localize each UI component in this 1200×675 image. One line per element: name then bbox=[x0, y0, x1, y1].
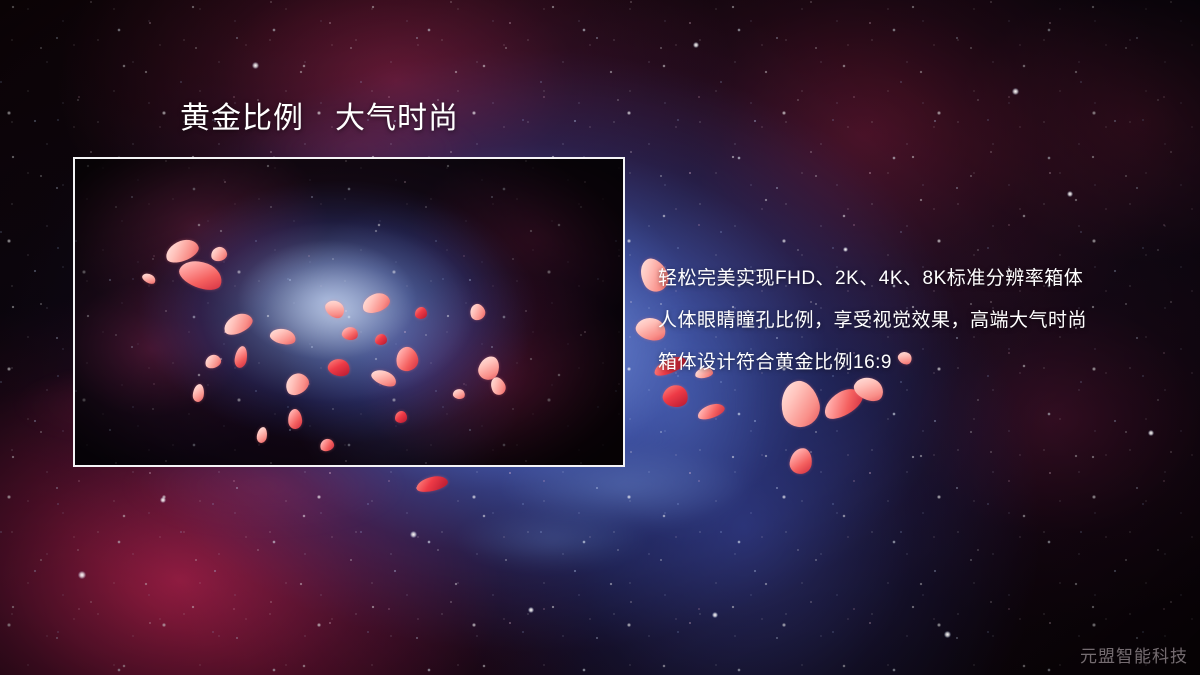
page-title: 黄金比例 大气时尚 bbox=[180, 101, 459, 137]
body-line-1: 轻松完美实现FHD、2K、4K、8K标准分辨率箱体 bbox=[658, 258, 1178, 300]
framed-nebula-photo bbox=[73, 157, 625, 467]
body-text-block: 轻松完美实现FHD、2K、4K、8K标准分辨率箱体 人体眼睛瞳孔比例，享受视觉效… bbox=[658, 258, 1178, 384]
watermark: 元盟智能科技 bbox=[1080, 642, 1188, 667]
body-line-2: 人体眼睛瞳孔比例，享受视觉效果，高端大气时尚 bbox=[658, 300, 1178, 342]
body-line-3: 箱体设计符合黄金比例16:9 bbox=[658, 342, 1178, 384]
presentation-slide: 黄金比例 大气时尚 轻松完美实现FHD、2K、4K、8K标准分辨率箱体 人体眼睛… bbox=[0, 0, 1200, 675]
